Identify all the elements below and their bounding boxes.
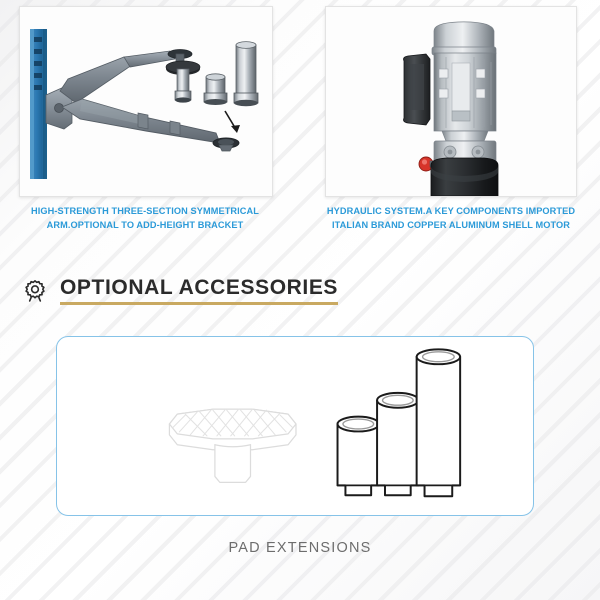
lift-arm-caption: HIGH-STRENGTH THREE-SECTION SYMMETRICAL …	[10, 205, 280, 232]
motor-housing	[432, 22, 496, 131]
optional-accessories-heading: OPTIONAL ACCESSORIES	[22, 276, 338, 305]
accessories-panel[interactable]	[56, 336, 534, 516]
pad-extension-tall-drawing	[417, 349, 461, 496]
lift-arm-photo	[20, 7, 272, 196]
lift-column	[30, 29, 47, 179]
hydraulic-power-unit-photo	[326, 7, 576, 196]
section-title: OPTIONAL ACCESSORIES	[60, 276, 338, 299]
pad-extensions-line-drawing	[57, 337, 533, 515]
pad-extensions-caption: PAD EXTENSIONS	[0, 540, 600, 556]
hydraulic-unit-caption: HYDRAULIC SYSTEM.A KEY COMPONENTS IMPORT…	[318, 205, 584, 232]
gear-icon	[22, 278, 48, 304]
lift-arm-illustration	[20, 7, 272, 196]
reservoir-tank	[431, 158, 498, 196]
hydraulic-unit-photo-frame[interactable]	[325, 6, 577, 197]
pad-extension-medium-drawing	[377, 393, 419, 495]
section-title-underline: OPTIONAL ACCESSORIES	[60, 276, 338, 305]
junction-box	[404, 54, 431, 125]
rubber-pad-drawing	[169, 409, 296, 482]
pad-extension-short-drawing	[338, 417, 380, 496]
hydraulic-unit-illustration	[326, 7, 576, 196]
photo-row	[0, 6, 600, 198]
lift-arm-photo-frame[interactable]	[19, 6, 273, 197]
page-background: HIGH-STRENGTH THREE-SECTION SYMMETRICAL …	[0, 0, 600, 600]
